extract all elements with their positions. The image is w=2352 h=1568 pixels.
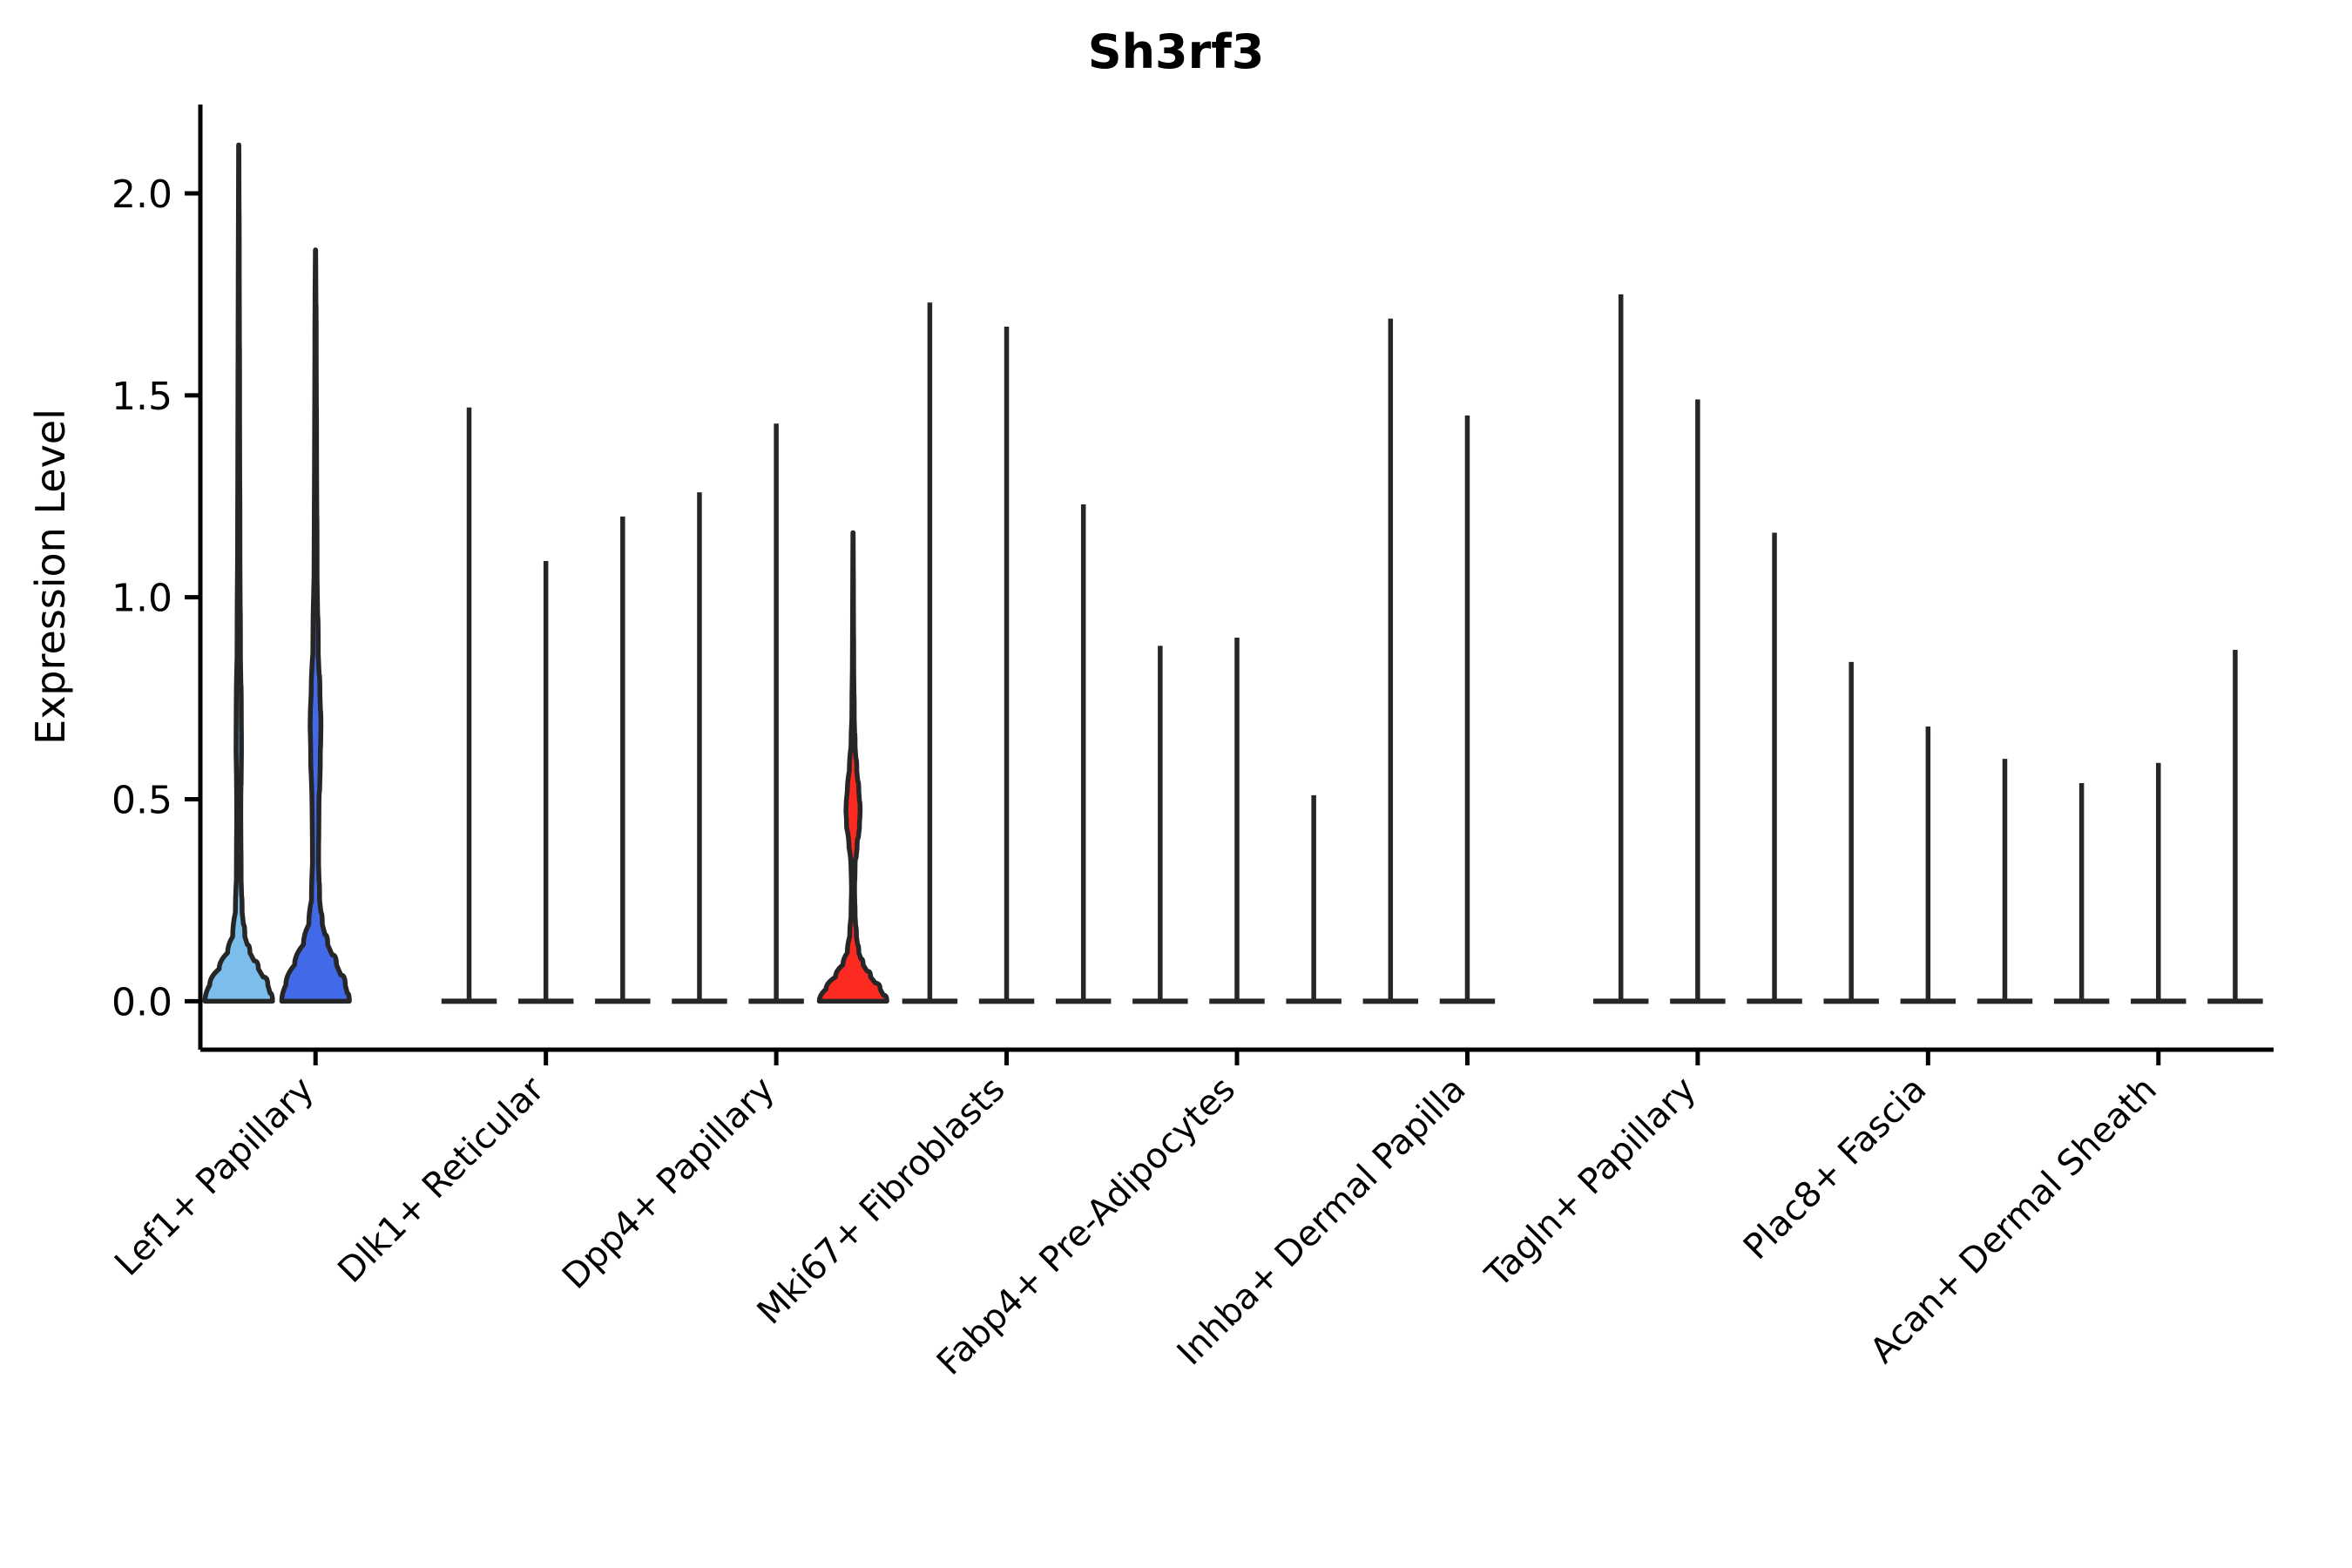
y-tick-label: 0.0 [112, 980, 172, 1024]
chart-title: Sh3rf3 [1088, 24, 1265, 79]
y-tick-label: 0.5 [112, 779, 172, 823]
figure-background [0, 0, 2352, 1568]
y-tick-label: 2.0 [112, 172, 172, 217]
y-axis-label: Expression Level [27, 409, 74, 745]
violin-plot-canvas: Sh3rf3 Expression Level 0.00.51.01.52.0 … [0, 0, 2352, 1568]
y-tick-label: 1.5 [112, 375, 172, 419]
y-tick-label: 1.0 [112, 577, 172, 621]
violin-plot-figure: Sh3rf3 Expression Level 0.00.51.01.52.0 … [0, 0, 2352, 1568]
